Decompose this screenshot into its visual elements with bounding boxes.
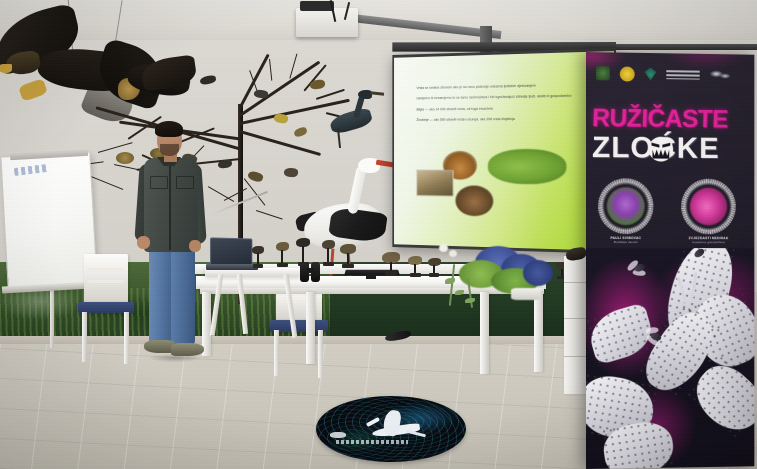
specimen-10 xyxy=(385,330,411,344)
flora-leaf xyxy=(455,290,464,295)
presenter-hand-right xyxy=(189,240,201,252)
presenter-leg-right xyxy=(171,248,195,344)
presenter-hair xyxy=(155,121,183,137)
chair-leg xyxy=(274,330,279,376)
plant-photo-left-glow xyxy=(598,178,654,234)
chair-back-rail xyxy=(88,268,124,271)
presenter-hand-left xyxy=(137,236,150,249)
specimen-3 xyxy=(296,238,310,268)
specimen-stand xyxy=(281,250,283,264)
specimen-body-flying xyxy=(385,330,412,342)
plant-photo-left: PAULI SVIBOVAC Buddleja davidii xyxy=(598,178,654,234)
slide-glare xyxy=(394,51,614,251)
specimen-base xyxy=(277,263,288,267)
heron-body xyxy=(328,107,373,136)
plant-left-latin-name: Buddleja davidii xyxy=(598,240,654,244)
monster-mouth xyxy=(652,150,669,159)
banner-lily-artwork xyxy=(586,248,754,469)
presenter xyxy=(131,124,217,371)
banner-logo-row xyxy=(596,62,746,86)
flipchart-leg xyxy=(50,290,54,348)
chair-back-rail xyxy=(88,280,124,283)
slide-surface: Vrsta se smatra stranom ako je na novo p… xyxy=(394,51,614,251)
perched-bird-9 xyxy=(218,159,233,169)
monster-eye-left xyxy=(652,143,660,148)
rollup-banner: RUŽIČASTE ZLOĆKE PAULI SVIBOVAC Buddleja… xyxy=(586,52,754,469)
table-leg xyxy=(306,292,315,364)
screenshot-root: Vrsta se smatra stranom ako je na novo p… xyxy=(0,0,757,469)
specimen-5 xyxy=(340,244,356,270)
monster-face-icon xyxy=(649,137,674,162)
logo-partner-3-icon xyxy=(645,67,657,80)
chair-left[interactable] xyxy=(78,254,136,364)
perched-bird-1 xyxy=(199,75,216,86)
projection-screen: Vrsta se smatra stranom ako je na novo p… xyxy=(392,48,616,254)
presenter-leg-left xyxy=(149,248,173,344)
chair-mid[interactable] xyxy=(268,288,330,388)
chair-back xyxy=(84,254,128,304)
flipchart-marking xyxy=(14,164,49,176)
perched-bird-10 xyxy=(247,170,264,184)
plant-photo-left-caption: PAULI SVIBOVAC Buddleja davidii xyxy=(598,236,654,244)
logo-partner-1-icon xyxy=(596,66,610,80)
perched-bird-2 xyxy=(254,89,269,99)
floor-mat-wordmark xyxy=(336,440,408,444)
specimen-base xyxy=(253,264,263,268)
floor-mat xyxy=(316,396,466,462)
banner-specimen-photos: PAULI SVIBOVAC Buddleja davidii ZVJEZDAS… xyxy=(596,178,746,236)
specimen-base xyxy=(342,264,354,268)
eagle-beak xyxy=(0,64,12,73)
chair-leg xyxy=(318,330,323,378)
presenter-shirt-pocket-right xyxy=(176,176,194,189)
specimen-7 xyxy=(408,256,422,278)
display-tray-stand xyxy=(366,274,376,279)
specimen-stand xyxy=(302,246,304,263)
plant-photo-right-glow xyxy=(681,179,736,235)
presenter-beard xyxy=(160,144,179,156)
flora-leaf xyxy=(465,298,475,303)
tree-twig xyxy=(256,210,283,220)
specimen-2 xyxy=(276,242,289,268)
specimen-6 xyxy=(382,252,400,276)
specimen-base xyxy=(298,262,309,266)
plant-right-latin-name: Impatiens glandulifera xyxy=(681,240,736,244)
logo-partner-2-icon xyxy=(620,66,635,81)
specimen-base xyxy=(323,262,334,266)
logo-partner-wordmark xyxy=(666,70,699,79)
heron-beak xyxy=(370,91,384,95)
specimen-base xyxy=(410,273,421,277)
eagle-talon xyxy=(18,78,48,102)
tree-twig xyxy=(269,59,273,81)
flora-leaf xyxy=(445,278,455,284)
chair-leg xyxy=(82,312,87,362)
perched-bird-11 xyxy=(293,126,308,138)
chair-leg xyxy=(124,312,129,364)
plant-photo-right-caption: ZVJEZDASTI NEDIRAK Impatiens glandulifer… xyxy=(681,236,736,244)
specimen-stand xyxy=(327,248,329,263)
presenter-shoe-right xyxy=(171,343,204,356)
specimen-4 xyxy=(322,240,335,268)
binocular-bridge xyxy=(307,268,314,273)
presenter-shirt xyxy=(144,158,198,252)
monster-eye-right xyxy=(662,143,670,148)
projector-top-module xyxy=(300,1,334,11)
floral-arrangement xyxy=(425,244,555,306)
flora-blue-cluster xyxy=(523,260,553,286)
presenter-shirt-pocket-left xyxy=(150,176,168,189)
flora-white-flower xyxy=(449,250,457,257)
plant-photo-right: ZVJEZDASTI NEDIRAK Impatiens glandulifer… xyxy=(681,179,736,235)
mat-bird-neck xyxy=(366,417,380,427)
flora-white-flower xyxy=(439,244,448,252)
flora-vine xyxy=(449,264,455,306)
banner-title-line-1: RUŽIČASTE xyxy=(591,104,748,135)
specimen-base xyxy=(385,271,397,275)
logo-partner-4-icon xyxy=(709,68,730,82)
flora-paper-wrap xyxy=(511,288,541,300)
specimen-1 xyxy=(252,246,264,268)
floor-mat-badge xyxy=(330,432,346,438)
presenter-shirt-placket xyxy=(169,164,171,250)
